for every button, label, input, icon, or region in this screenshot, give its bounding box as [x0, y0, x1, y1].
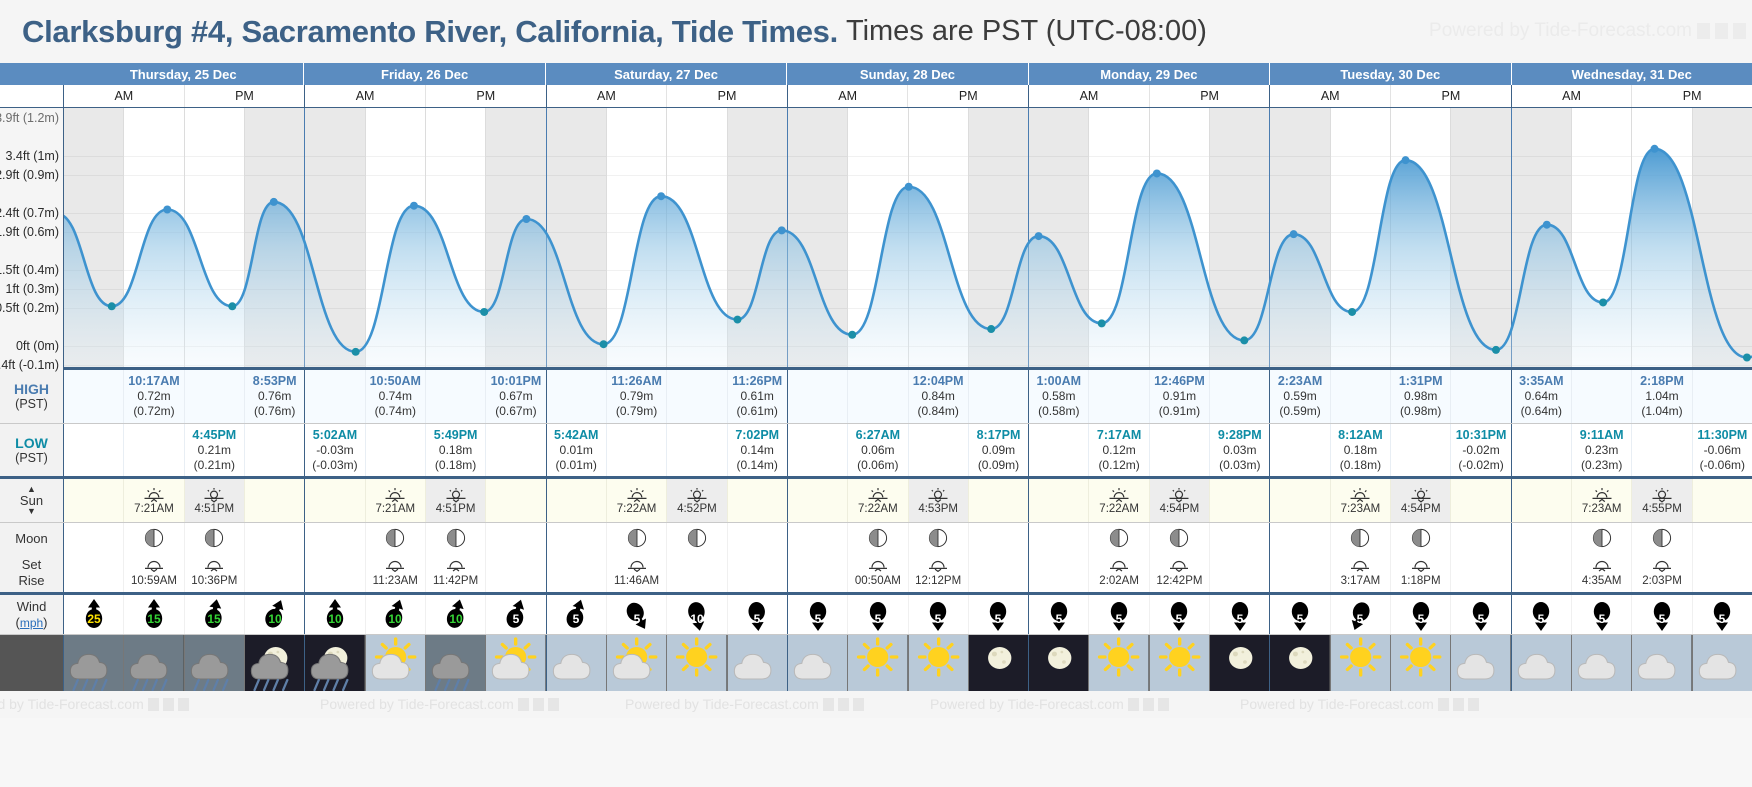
tide-marker-2 [228, 302, 236, 310]
moon-phase-cell-2-2[interactable] [666, 523, 726, 553]
sunset-time: 4:52PM [677, 503, 717, 515]
low-tide-cell-3-3[interactable]: 8:17PM0.09m(0.09m) [968, 424, 1028, 477]
weather-icon-partly-cloudy[interactable] [365, 635, 425, 691]
sun-cell-0-2[interactable]: 4:51PM [184, 479, 244, 522]
weather-icon-cloudy[interactable] [788, 635, 847, 691]
high-tide-cell-0-1[interactable]: 10:17AM0.72m(0.72m) [123, 370, 183, 423]
sunset-time: 4:51PM [195, 503, 235, 515]
wind-cell-5-0[interactable]: 5 [1270, 595, 1329, 634]
low-tide-cell-4-1[interactable]: 7:17AM0.12m(0.12m) [1088, 424, 1148, 477]
high-tide-cell-3-3 [968, 370, 1028, 423]
moon-rise-label: Rise [18, 573, 44, 589]
moon-phase-row: Moon [0, 523, 1752, 553]
moon-phase-cell-0-2[interactable] [184, 523, 244, 553]
wind-cell-5-2[interactable]: 5 [1390, 595, 1450, 634]
sun-cell-3-3 [968, 479, 1028, 522]
moon-setrise-cell-0-1[interactable]: 10:59AM [123, 553, 183, 592]
weather-icon-sunny[interactable] [1390, 635, 1450, 691]
weather-icon-cloudy[interactable] [547, 635, 606, 691]
low-tide-cell-2-2 [666, 424, 726, 477]
low-tide-time: 8:17PM [977, 427, 1021, 443]
high-tide-cell-6-0[interactable]: 3:35AM0.64m(0.64m) [1512, 370, 1571, 423]
weather-icon-night-clear[interactable] [1270, 635, 1329, 691]
wind-cell-1-1[interactable]: 10 [365, 595, 425, 634]
ampm-day-0: AMPM [63, 85, 304, 108]
moon-setrise-day-2: 11:46AM [546, 553, 787, 592]
weather-icon-night-rain[interactable] [244, 635, 304, 691]
wind-cell-3-2[interactable]: 5 [908, 595, 968, 634]
low-tide-day-3: 6:27AM0.06m(0.06m)8:17PM0.09m(0.09m) [787, 424, 1028, 477]
weather-icon-sunny[interactable] [847, 635, 907, 691]
ampm-pm-3: PM [907, 85, 1028, 107]
footer-watermark-icon-1 [1453, 698, 1464, 711]
wind-cell-5-3[interactable]: 5 [1450, 595, 1510, 634]
low-tide-cell-5-3[interactable]: 10:31PM-0.02m(-0.02m) [1450, 424, 1510, 477]
moon-phase-cells [63, 523, 1752, 553]
high-tide-cell-5-1 [1330, 370, 1390, 423]
y-axis-label-5: 1.5ft (0.4m) [0, 263, 59, 277]
svg-text:10: 10 [449, 612, 463, 626]
sunrise-icon [626, 486, 648, 503]
ampm-am-2: AM [547, 85, 667, 107]
low-tide-height-secondary: (0.03m) [1219, 458, 1260, 473]
sun-cell-2-0 [547, 479, 606, 522]
svg-text:10: 10 [328, 612, 342, 626]
moon-setrise-cell-6-2[interactable]: 2:03PM [1631, 553, 1691, 592]
ampm-pm-6: PM [1631, 85, 1752, 107]
sun-cell-6-2[interactable]: 4:55PM [1631, 479, 1691, 522]
sunset-icon [445, 486, 467, 503]
sun-cell-4-1[interactable]: 7:22AM [1088, 479, 1148, 522]
sun-day-6: 7:23AM4:55PM [1511, 479, 1752, 522]
weather-icon-cloudy[interactable] [727, 635, 787, 691]
moon-row-label: Moon [0, 523, 63, 553]
sun-cell-6-0 [1512, 479, 1571, 522]
footer-watermark-icon-1 [1143, 698, 1154, 711]
sun-cell-5-1[interactable]: 7:23AM [1330, 479, 1390, 522]
weather-icon-rain[interactable] [425, 635, 485, 691]
low-tide-cell-2-3[interactable]: 7:02PM0.14m(0.14m) [727, 424, 787, 477]
low-tide-time: 10:31PM [1456, 427, 1507, 443]
tide-marker-21 [1402, 156, 1410, 164]
moon-phase-cell-3-1[interactable] [847, 523, 907, 553]
low-tide-height-primary: 0.06m [861, 443, 894, 458]
sun-cell-1-2[interactable]: 4:51PM [425, 479, 485, 522]
low-tide-cell-1-0[interactable]: 5:02AM-0.03m(-0.03m) [305, 424, 364, 477]
moon-setrise-cell-6-1[interactable]: 4:35AM [1571, 553, 1631, 592]
day-header-6[interactable]: Wednesday, 31 Dec [1511, 63, 1752, 85]
ampm-day-4: AMPM [1028, 85, 1269, 108]
low-tide-height-secondary: (-0.03m) [312, 458, 357, 473]
watermark-icon-3 [1733, 23, 1746, 39]
sun-cell-2-1[interactable]: 7:22AM [606, 479, 666, 522]
moon-setrise-cell-3-3 [968, 553, 1028, 592]
moon-last-quarter-icon [144, 528, 164, 548]
ampm-day-1: AMPM [304, 85, 545, 108]
low-tide-time: 4:45PM [192, 427, 236, 443]
low-tide-day-0: 4:45PM0.21m(0.21m) [63, 424, 304, 477]
moonset-icon [446, 558, 466, 575]
moon-setrise-cell-0-0 [64, 553, 123, 592]
weather-icon-rain[interactable] [64, 635, 123, 691]
moon-setrise-cell-3-1[interactable]: 00:50AM [847, 553, 907, 592]
high-tide-height-secondary: (0.98m) [1400, 404, 1441, 419]
high-tide-height-secondary: (0.79m) [616, 404, 657, 419]
high-tide-cell-1-0 [305, 370, 364, 423]
weather-day-1 [304, 635, 545, 691]
weather-icon-night-clear[interactable] [1209, 635, 1269, 691]
low-tide-cell-6-3[interactable]: 11:30PM-0.06m(-0.06m) [1692, 424, 1752, 477]
tide-marker-9 [657, 192, 665, 200]
weather-icon-cloudy[interactable] [1450, 635, 1510, 691]
moon-setrise-cell-2-0 [547, 553, 606, 592]
moonset-time: 4:35AM [1582, 575, 1622, 587]
low-tide-cell-2-0[interactable]: 5:42AM0.01m(0.01m) [547, 424, 606, 477]
moon-setrise-cell-5-3 [1450, 553, 1510, 592]
low-tide-time: 5:42AM [554, 427, 598, 443]
footer-watermark-icon-2 [548, 698, 559, 711]
high-tide-cell-2-1[interactable]: 11:26AM0.79m(0.79m) [606, 370, 666, 423]
wind-unit-text[interactable]: mph [20, 616, 43, 630]
ampm-day-2: AMPM [546, 85, 787, 108]
low-tide-height-secondary: (0.01m) [556, 458, 597, 473]
moonrise-time: 11:46AM [614, 575, 659, 587]
tide-marker-7 [522, 215, 530, 223]
wind-cell-4-3[interactable]: 5 [1209, 595, 1269, 634]
high-tide-height-secondary: (0.91m) [1159, 404, 1200, 419]
tide-marker-4 [352, 348, 360, 356]
moon-phase-cell-2-1[interactable] [606, 523, 666, 553]
footer-watermark-3: Powered by Tide-Forecast.com [930, 696, 1169, 712]
ampm-am-3: AM [788, 85, 908, 107]
moonrise-icon [928, 558, 948, 575]
y-axis-label-1: 3.4ft (1m) [6, 149, 60, 163]
low-tide-height-primary: 0.18m [1344, 443, 1377, 458]
tide-marker-19 [1290, 230, 1298, 238]
wind-cell-6-0[interactable]: 5 [1512, 595, 1571, 634]
weather-icon-night-clear[interactable] [1029, 635, 1088, 691]
sun-cell-5-2[interactable]: 4:54PM [1390, 479, 1450, 522]
moon-setrise-cell-5-1[interactable]: 3:17AM [1330, 553, 1390, 592]
sunset-icon [1651, 486, 1673, 503]
tide-marker-16 [1098, 319, 1106, 327]
svg-text:15: 15 [147, 612, 161, 626]
low-tide-height-primary: -0.06m [1704, 443, 1741, 458]
moon-setrise-cell-4-2[interactable]: 12:42PM [1149, 553, 1209, 592]
wind-cell-1-3[interactable]: 5 [485, 595, 545, 634]
sun-cell-3-1[interactable]: 7:22AM [847, 479, 907, 522]
low-tide-height-secondary: (0.18m) [435, 458, 476, 473]
moonrise-icon [1652, 558, 1672, 575]
moonrise-icon [1411, 558, 1431, 575]
moon-setrise-day-6: 4:35AM2:03PM [1511, 553, 1752, 592]
high-tide-cell-5-0[interactable]: 2:23AM0.59m(0.59m) [1270, 370, 1329, 423]
ampm-am-1: AM [305, 85, 425, 107]
low-tide-cell-6-2 [1631, 424, 1691, 477]
moon-setrise-cell-3-0 [788, 553, 847, 592]
high-tide-height-primary: 0.91m [1163, 389, 1196, 404]
weather-cells [63, 635, 1752, 691]
moon-setrise-day-0: 10:59AM10:36PM [63, 553, 304, 592]
low-tide-cell-4-3[interactable]: 9:28PM0.03m(0.03m) [1209, 424, 1269, 477]
wind-cell-4-0[interactable]: 5 [1029, 595, 1088, 634]
moon-setrise-cell-2-1[interactable]: 11:46AM [606, 553, 666, 592]
high-tide-height-secondary: (0.76m) [254, 404, 295, 419]
weather-icon-sun-cloud[interactable] [606, 635, 666, 691]
moon-phase-cell-4-2[interactable] [1149, 523, 1209, 553]
weather-icon-cloudy[interactable] [1692, 635, 1752, 691]
high-tide-cell-3-2[interactable]: 12:04PM0.84m(0.84m) [908, 370, 968, 423]
sun-cell-5-0 [1270, 479, 1329, 522]
ampm-am-4: AM [1029, 85, 1149, 107]
wind-cell-0-1[interactable]: 15 [123, 595, 183, 634]
weather-icon-cloudy[interactable] [1512, 635, 1571, 691]
sun-cell-6-1[interactable]: 7:23AM [1571, 479, 1631, 522]
moonset-icon [1350, 558, 1370, 575]
moon-phase-cell-5-2[interactable] [1390, 523, 1450, 553]
high-tide-cell-3-0 [788, 370, 847, 423]
weather-icon-sunny[interactable] [908, 635, 968, 691]
high-tide-cell-4-0[interactable]: 1:00AM0.58m(0.58m) [1029, 370, 1088, 423]
wind-cell-2-2[interactable]: 10 [666, 595, 726, 634]
sun-cell-2-2[interactable]: 4:52PM [666, 479, 726, 522]
weather-icon-sunny[interactable] [1088, 635, 1148, 691]
sun-cell-3-2[interactable]: 4:53PM [908, 479, 968, 522]
moon-setrise-row: Set Rise 10:59AM10:36PM11:23AM11:42PM11:… [0, 553, 1752, 595]
sunrise-time: 7:21AM [134, 503, 174, 515]
svg-text:5: 5 [1538, 612, 1545, 626]
moon-setrise-cell-1-1[interactable]: 11:23AM [365, 553, 425, 592]
sun-cell-4-0 [1029, 479, 1088, 522]
day-header-3[interactable]: Sunday, 28 Dec [786, 63, 1027, 85]
sunrise-time: 7:22AM [858, 503, 898, 515]
sunrise-icon [1349, 486, 1371, 503]
wind-unit-link[interactable]: (mph) [15, 615, 47, 631]
wind-day-1: 1010105 [304, 595, 545, 634]
high-tide-cell-6-3 [1692, 370, 1752, 423]
day-header-0[interactable]: Thursday, 25 Dec [63, 63, 303, 85]
low-tide-cell-1-2[interactable]: 5:49PM0.18m(0.18m) [425, 424, 485, 477]
day-header-row: Thursday, 25 DecFriday, 26 DecSaturday, … [0, 63, 1752, 85]
day-header-5[interactable]: Tuesday, 30 Dec [1269, 63, 1510, 85]
moon-phase-cell-6-1[interactable] [1571, 523, 1631, 553]
footer-watermark-icon-0 [823, 698, 834, 711]
svg-text:5: 5 [1659, 612, 1666, 626]
weather-icon-rain[interactable] [123, 635, 183, 691]
tide-marker-18 [1240, 336, 1248, 344]
high-tide-cell-2-0 [547, 370, 606, 423]
svg-text:5: 5 [1236, 612, 1243, 626]
svg-text:5: 5 [1297, 612, 1304, 626]
footer-watermark-icon-1 [533, 698, 544, 711]
sun-day-4: 7:22AM4:54PM [1028, 479, 1269, 522]
svg-text:25: 25 [87, 612, 101, 626]
footer-watermark-icon-2 [853, 698, 864, 711]
sun-cell-1-1[interactable]: 7:21AM [365, 479, 425, 522]
sun-day-2: 7:22AM4:52PM [546, 479, 787, 522]
moonset-time: 10:36PM [191, 575, 237, 587]
moon-phase-cell-5-1[interactable] [1330, 523, 1390, 553]
wind-cell-6-3[interactable]: 5 [1692, 595, 1752, 634]
day-header-1[interactable]: Friday, 26 Dec [303, 63, 544, 85]
high-tide-height-secondary: (1.04m) [1641, 404, 1682, 419]
wind-cell-0-0[interactable]: 25 [64, 595, 123, 634]
day-header-2[interactable]: Saturday, 27 Dec [545, 63, 786, 85]
low-tide-cell-0-2[interactable]: 4:45PM0.21m(0.21m) [184, 424, 244, 477]
wind-cell-1-0[interactable]: 10 [305, 595, 364, 634]
wind-cell-3-3[interactable]: 5 [968, 595, 1028, 634]
low-tide-cell-0-3 [244, 424, 304, 477]
moon-phase-day-6 [1511, 523, 1752, 553]
low-tide-height-primary: 0.03m [1223, 443, 1256, 458]
high-tide-time: 3:35AM [1519, 373, 1563, 389]
moon-last-quarter-icon [446, 528, 466, 548]
moon-phase-cell-4-1[interactable] [1088, 523, 1148, 553]
high-tide-label: HIGH (PST) [0, 370, 63, 423]
weather-icon-cloudy[interactable] [1571, 635, 1631, 691]
sun-cell-1-0 [305, 479, 364, 522]
wind-cell-0-2[interactable]: 15 [184, 595, 244, 634]
moonset-icon [868, 558, 888, 575]
moon-phase-cell-0-1[interactable] [123, 523, 183, 553]
moon-last-quarter-icon [928, 528, 948, 548]
tide-marker-11 [778, 226, 786, 234]
low-tide-day-1: 5:02AM-0.03m(-0.03m)5:49PM0.18m(0.18m) [304, 424, 545, 477]
sunset-icon [1168, 486, 1190, 503]
high-tide-day-6: 3:35AM0.64m(0.64m)2:18PM1.04m(1.04m) [1511, 370, 1752, 423]
wind-cell-5-1[interactable]: 5 [1330, 595, 1390, 634]
ampm-pm-5: PM [1390, 85, 1511, 107]
wind-cell-2-1[interactable]: 5 [606, 595, 666, 634]
high-tide-height-secondary: (0.67m) [495, 404, 536, 419]
ampm-headers: AMPMAMPMAMPMAMPMAMPMAMPMAMPM [63, 85, 1752, 108]
low-tide-cell-5-1[interactable]: 8:12AM0.18m(0.18m) [1330, 424, 1390, 477]
tide-marker-17 [1153, 169, 1161, 177]
high-tide-cell-4-2[interactable]: 12:46PM0.91m(0.91m) [1149, 370, 1209, 423]
moon-setrise-cell-0-2[interactable]: 10:36PM [184, 553, 244, 592]
weather-icon-sunny[interactable] [1149, 635, 1209, 691]
high-tide-cell-6-2[interactable]: 2:18PM1.04m(1.04m) [1631, 370, 1691, 423]
high-tide-day-3: 12:04PM0.84m(0.84m) [787, 370, 1028, 423]
moonrise-time: 1:18PM [1401, 575, 1441, 587]
high-tide-day-4: 1:00AM0.58m(0.58m)12:46PM0.91m(0.91m) [1028, 370, 1269, 423]
low-tide-cell-5-0 [1270, 424, 1329, 477]
moon-setrise-cell-3-2[interactable]: 12:12PM [908, 553, 968, 592]
wind-cell-0-3[interactable]: 10 [244, 595, 304, 634]
weather-icon-sun-cloud[interactable] [485, 635, 545, 691]
moon-phase-cell-3-2[interactable] [908, 523, 968, 553]
high-tide-cell-5-2[interactable]: 1:31PM0.98m(0.98m) [1390, 370, 1450, 423]
weather-icon-cloudy[interactable] [1631, 635, 1691, 691]
svg-text:5: 5 [814, 612, 821, 626]
weather-icon-rain[interactable] [184, 635, 244, 691]
low-tide-time: 5:49PM [434, 427, 478, 443]
moon-set-label: Set [22, 557, 42, 573]
low-tide-height-secondary: (0.14m) [737, 458, 778, 473]
day-header-4[interactable]: Monday, 29 Dec [1028, 63, 1269, 85]
moon-setrise-cell-1-2[interactable]: 11:42PM [425, 553, 485, 592]
moon-phase-cell-1-1[interactable] [365, 523, 425, 553]
high-tide-cell-1-3[interactable]: 10:01PM0.67m(0.67m) [485, 370, 545, 423]
weather-icon-sunny[interactable] [1330, 635, 1390, 691]
moon-phase-cell-6-2[interactable] [1631, 523, 1691, 553]
low-tide-cell-2-1 [606, 424, 666, 477]
wind-cell-3-0[interactable]: 5 [788, 595, 847, 634]
footer-watermark-text: Powered by Tide-Forecast.com [625, 696, 819, 712]
high-tide-height-primary: 0.84m [921, 389, 954, 404]
moon-last-quarter-icon [1109, 528, 1129, 548]
high-tide-time: 10:50AM [370, 373, 421, 389]
low-tide-cell-6-1[interactable]: 9:11AM0.23m(0.23m) [1571, 424, 1631, 477]
wind-cell-4-1[interactable]: 5 [1088, 595, 1148, 634]
wind-day-5: 5555 [1269, 595, 1510, 634]
weather-icon-night-clear[interactable] [968, 635, 1028, 691]
svg-text:5: 5 [1357, 612, 1364, 626]
moon-last-quarter-icon [385, 528, 405, 548]
moon-phase-cell-1-2[interactable] [425, 523, 485, 553]
sun-cell-0-1[interactable]: 7:21AM [123, 479, 183, 522]
wind-cell-1-2[interactable]: 10 [425, 595, 485, 634]
high-tide-height-secondary: (0.59m) [1279, 404, 1320, 419]
moon-last-quarter-icon [868, 528, 888, 548]
sunset-icon [686, 486, 708, 503]
moonrise-time: 12:42PM [1156, 575, 1202, 587]
sun-cell-3-0 [788, 479, 847, 522]
low-tide-height-primary: -0.03m [316, 443, 353, 458]
wind-cell-6-2[interactable]: 5 [1631, 595, 1691, 634]
high-tide-cell-0-3[interactable]: 8:53PM0.76m(0.76m) [244, 370, 304, 423]
moon-phase-day-1 [304, 523, 545, 553]
wind-cell-2-0[interactable]: 5 [547, 595, 606, 634]
footer-watermark-text: Powered by Tide-Forecast.com [930, 696, 1124, 712]
high-tide-cell-3-1 [847, 370, 907, 423]
sun-cell-4-2[interactable]: 4:54PM [1149, 479, 1209, 522]
moon-phase-day-3 [787, 523, 1028, 553]
low-tide-cell-4-2 [1149, 424, 1209, 477]
low-tide-time: 8:12AM [1338, 427, 1382, 443]
high-tide-height-secondary: (0.84m) [917, 404, 958, 419]
wind-cell-4-2[interactable]: 5 [1149, 595, 1209, 634]
high-tide-cell-5-3 [1450, 370, 1510, 423]
tide-extrema-markers [64, 108, 1752, 370]
sunset-time: 4:55PM [1642, 503, 1682, 515]
ampm-pm-2: PM [666, 85, 787, 107]
low-tide-cell-3-1[interactable]: 6:27AM0.06m(0.06m) [847, 424, 907, 477]
footer-watermark-4: Powered by Tide-Forecast.com [1240, 696, 1479, 712]
weather-icon-sunny[interactable] [666, 635, 726, 691]
sunset-icon [1410, 486, 1432, 503]
wind-cell-3-1[interactable]: 5 [847, 595, 907, 634]
high-tide-time: 12:04PM [913, 373, 964, 389]
sunrise-time: 7:23AM [1341, 503, 1381, 515]
high-tide-cell-1-1[interactable]: 10:50AM0.74m(0.74m) [365, 370, 425, 423]
low-tide-cell-3-0 [788, 424, 847, 477]
weather-icon-night-rain[interactable] [305, 635, 364, 691]
footer-watermark-0: Powered by Tide-Forecast.com [0, 696, 189, 712]
moon-setrise-cell-5-2[interactable]: 1:18PM [1390, 553, 1450, 592]
high-tide-cell-2-3[interactable]: 11:26PM0.61m(0.61m) [727, 370, 787, 423]
ampm-am-5: AM [1270, 85, 1390, 107]
tide-chart-y-axis: 3.9ft (1.2m)3.4ft (1m)2.9ft (0.9m)2.4ft … [0, 108, 63, 370]
high-tide-label-main: HIGH [14, 381, 49, 397]
high-tide-height-secondary: (0.61m) [737, 404, 778, 419]
wind-cell-2-3[interactable]: 5 [727, 595, 787, 634]
moon-phase-cell-6-0 [1512, 523, 1571, 553]
low-tide-time: 5:02AM [313, 427, 357, 443]
moon-setrise-cell-4-1[interactable]: 2:02AM [1088, 553, 1148, 592]
tide-marker-25 [1651, 145, 1659, 153]
wind-cell-6-1[interactable]: 5 [1571, 595, 1631, 634]
